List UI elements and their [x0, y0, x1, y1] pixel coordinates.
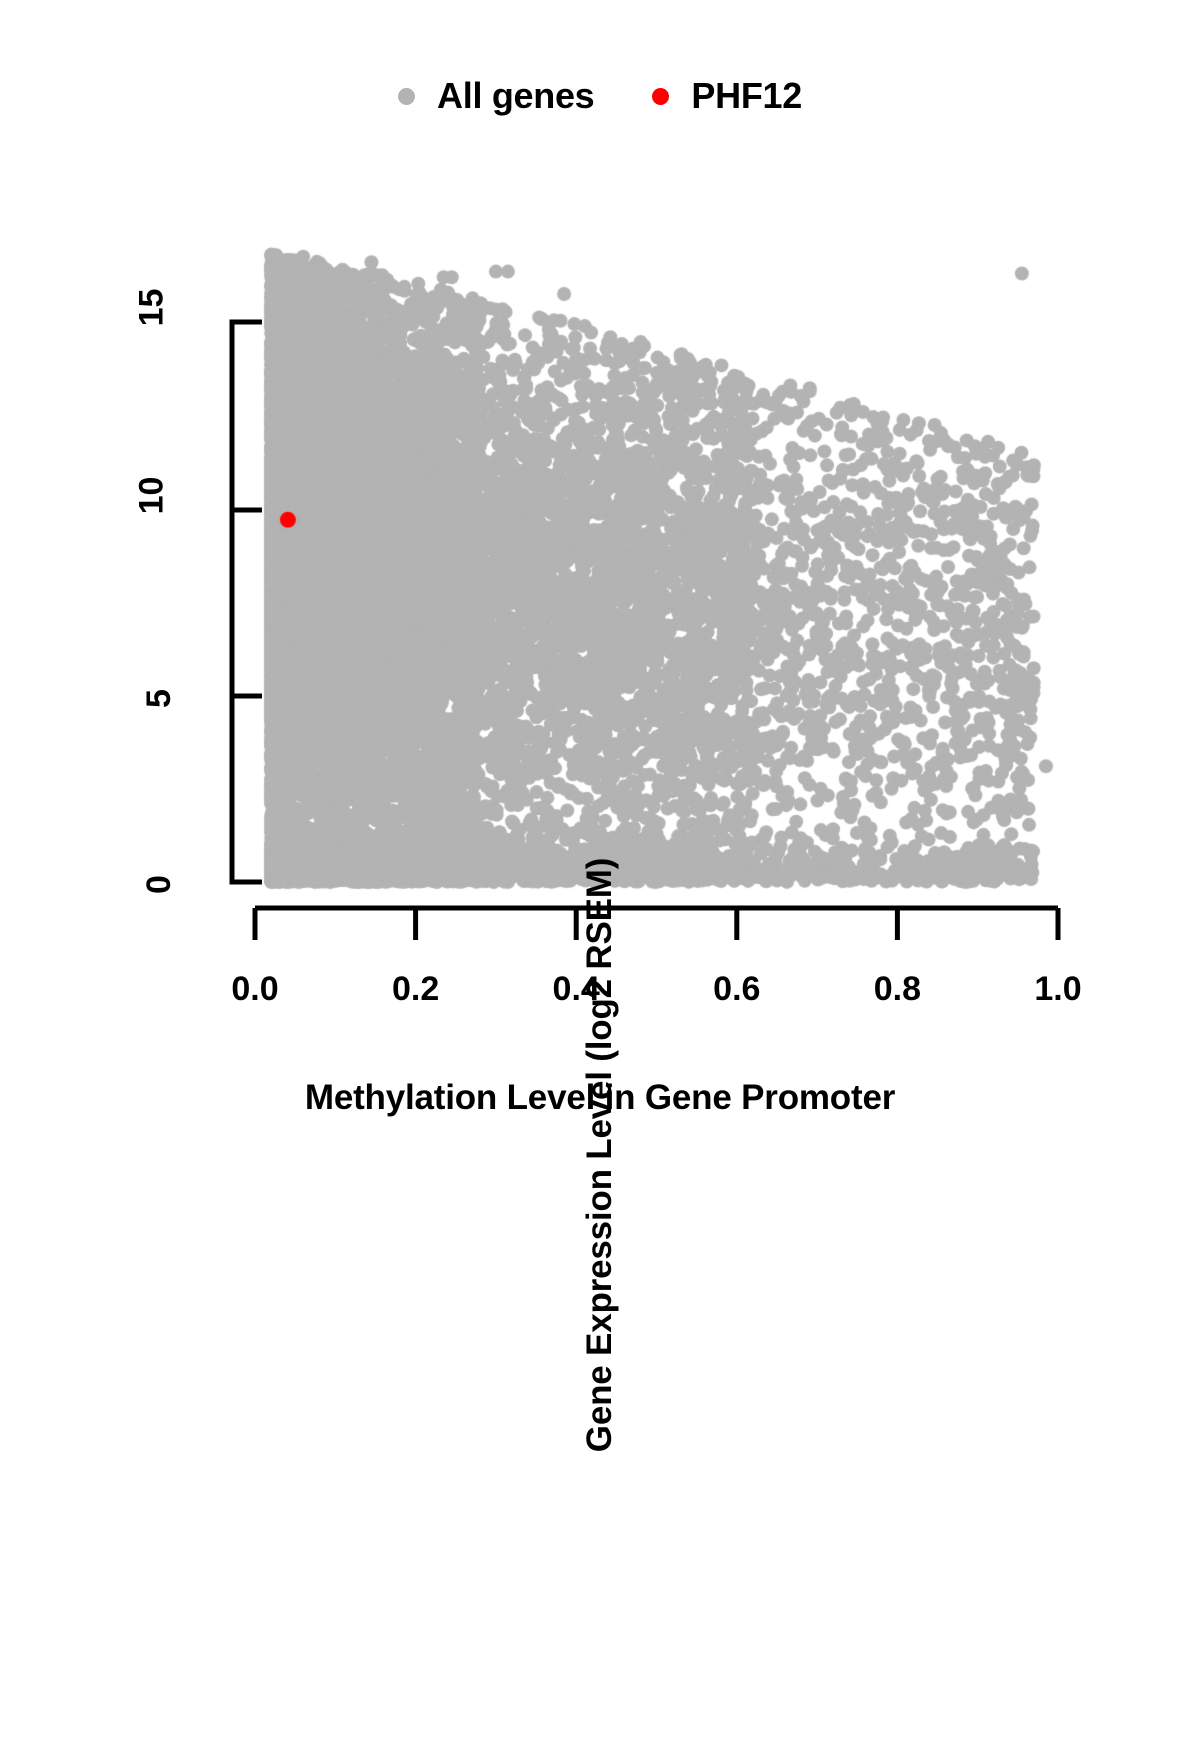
- scatter-plot-figure: 0.0 0.2 0.4 0.6 0.8 1.0 0 5 10 15 All ge…: [0, 0, 1200, 1200]
- y-axis-title: Gene Expression Level (log2 RSEM): [0, 0, 1200, 1200]
- y-axis-title-text: Gene Expression Level (log2 RSEM): [580, 555, 620, 1755]
